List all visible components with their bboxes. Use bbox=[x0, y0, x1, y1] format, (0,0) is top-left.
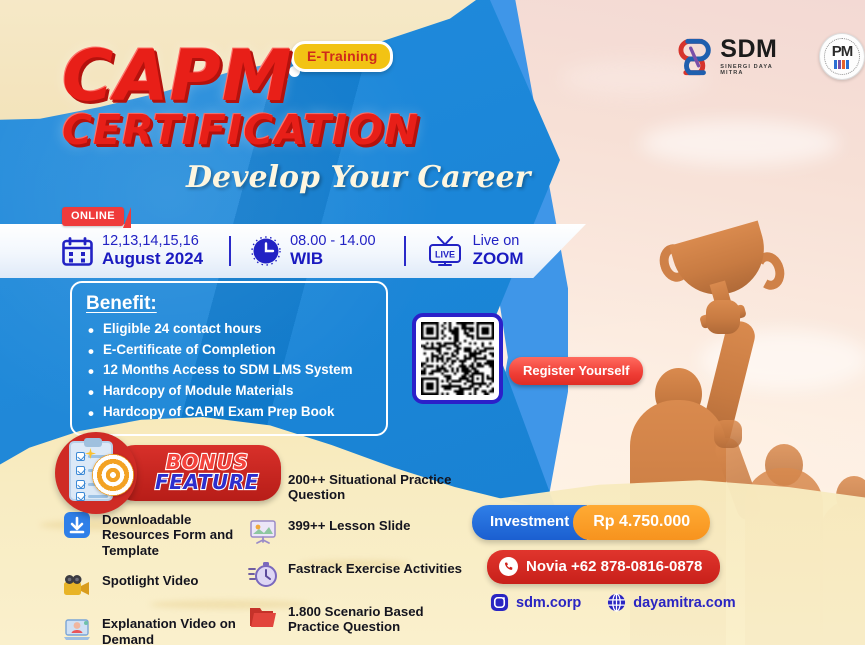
event-info-bar: 12,13,14,15,16 August 2024 08.00 - 14.00… bbox=[0, 224, 586, 278]
target-spiral-icon bbox=[92, 454, 134, 496]
folder-icon bbox=[248, 602, 278, 632]
benefit-box: Benefit: Eligible 24 contact hours E-Cer… bbox=[70, 281, 388, 436]
benefit-item: Hardcopy of Module Materials bbox=[86, 381, 372, 402]
online-badge: ONLINE bbox=[62, 207, 124, 226]
clipboard-target-icon bbox=[55, 432, 137, 514]
cloud-shape bbox=[640, 120, 840, 166]
person-2-fist bbox=[714, 420, 742, 448]
event-time-range: 08.00 - 14.00 bbox=[290, 234, 375, 250]
event-date-month: August 2024 bbox=[102, 249, 203, 268]
event-time-cell: 08.00 - 14.00 WIB bbox=[251, 234, 375, 269]
clipboard-clip bbox=[84, 438, 102, 447]
bonus-feature-label: Spotlight Video bbox=[102, 571, 198, 588]
bonus-feature-item: 1.800 Scenario Based Practice Question bbox=[248, 602, 463, 635]
bonus-feature-item: Explanation Video on Demand bbox=[62, 614, 247, 645]
event-platform-prefix: Live on bbox=[473, 234, 524, 250]
tv-live-icon: LIVE bbox=[426, 236, 464, 267]
investment-label: Investment bbox=[472, 505, 587, 540]
logo-group: SDM SINERGI DAYA MITRA PM bbox=[678, 33, 865, 80]
bonus-feature-label: Fastrack Exercise Activities bbox=[288, 559, 462, 576]
investment-price: Rp 4.750.000 bbox=[573, 505, 710, 540]
globe-icon bbox=[607, 593, 626, 612]
qr-code-frame[interactable] bbox=[412, 313, 503, 404]
bonus-feature-badge: BONUS FEATURE bbox=[113, 445, 281, 501]
benefit-list: Eligible 24 contact hours E-Certificate … bbox=[86, 319, 372, 422]
svg-text:LIVE: LIVE bbox=[435, 249, 455, 259]
sdm-logo: SDM SINERGI DAYA MITRA bbox=[678, 37, 797, 76]
event-date-days: 12,13,14,15,16 bbox=[102, 234, 203, 250]
whatsapp-icon bbox=[499, 557, 518, 576]
bonus-feature-item: Fastrack Exercise Activities bbox=[248, 559, 463, 589]
page-subtitle: Develop Your Career bbox=[186, 160, 530, 195]
sdm-mark-icon bbox=[678, 38, 711, 76]
benefit-title: Benefit: bbox=[86, 293, 372, 315]
qr-code[interactable] bbox=[421, 322, 494, 395]
bonus-feature-item: Downloadable Resources Form and Template bbox=[62, 510, 247, 558]
bonus-feature-label: 200++ Situational Practice Question bbox=[288, 470, 463, 503]
benefit-item: E-Certificate of Completion bbox=[86, 340, 372, 361]
page-title-line1: CAPM bbox=[62, 41, 293, 111]
website-link[interactable]: dayamitra.com bbox=[607, 593, 735, 612]
hero-fist bbox=[706, 300, 740, 334]
download-icon bbox=[62, 510, 92, 540]
info-divider-1 bbox=[229, 236, 231, 266]
register-button[interactable]: Register Yourself bbox=[509, 357, 643, 385]
bonus-left-column: Downloadable Resources Form and Template… bbox=[62, 510, 247, 645]
sdm-logo-tagline: SINERGI DAYA MITRA bbox=[720, 64, 797, 76]
bonus-feature-item: Spotlight Video bbox=[62, 571, 247, 601]
contact-button[interactable]: Novia +62 878-0816-0878 bbox=[487, 550, 720, 584]
bonus-feature-label: Explanation Video on Demand bbox=[102, 614, 247, 645]
bonus-feature-label: 399++ Lesson Slide bbox=[288, 516, 410, 533]
contact-text: Novia +62 878-0816-0878 bbox=[526, 558, 702, 575]
info-divider-2 bbox=[404, 236, 406, 266]
benefit-item: 12 Months Access to SDM LMS System bbox=[86, 360, 372, 381]
benefit-item: Hardcopy of CAPM Exam Prep Book bbox=[86, 402, 372, 423]
video-camera-icon bbox=[62, 571, 92, 601]
bonus-feature-item: 399++ Lesson Slide bbox=[248, 516, 463, 546]
instagram-link[interactable]: sdm.corp bbox=[490, 593, 581, 612]
etraining-badge: E-Training bbox=[291, 41, 393, 72]
clock-icon bbox=[251, 236, 281, 266]
event-platform-cell: LIVE Live on ZOOM bbox=[426, 234, 524, 269]
bonus-feature-label: 1.800 Scenario Based Practice Question bbox=[288, 602, 463, 635]
sdm-logo-text: SDM bbox=[720, 37, 797, 62]
presentation-board-icon bbox=[248, 516, 278, 546]
social-links: sdm.corp dayamitra.com bbox=[490, 593, 736, 612]
page-title-line2: CERTIFICATION bbox=[62, 110, 420, 151]
laptop-presenter-icon bbox=[62, 614, 92, 644]
calendar-icon bbox=[62, 237, 93, 266]
benefit-item: Eligible 24 contact hours bbox=[86, 319, 372, 340]
bonus-feature-label: Downloadable Resources Form and Template bbox=[102, 510, 247, 558]
investment-row: Investment Rp 4.750.000 bbox=[472, 505, 710, 540]
instagram-handle: sdm.corp bbox=[516, 595, 581, 611]
website-url: dayamitra.com bbox=[633, 595, 735, 611]
event-time-zone: WIB bbox=[290, 249, 375, 268]
bonus-word-bonus: BONUS bbox=[155, 452, 259, 472]
stopwatch-icon bbox=[248, 559, 278, 589]
bonus-right-column: 200++ Situational Practice Question 399+… bbox=[248, 470, 463, 645]
pmi-atp-seal-icon: PM bbox=[819, 33, 865, 80]
instagram-icon bbox=[490, 593, 509, 612]
bonus-word-feature: FEATURE bbox=[155, 472, 259, 492]
event-date-cell: 12,13,14,15,16 August 2024 bbox=[62, 234, 203, 269]
event-platform-name: ZOOM bbox=[473, 249, 524, 268]
flyer-poster: SDM SINERGI DAYA MITRA PM E-Training CAP… bbox=[0, 0, 865, 645]
